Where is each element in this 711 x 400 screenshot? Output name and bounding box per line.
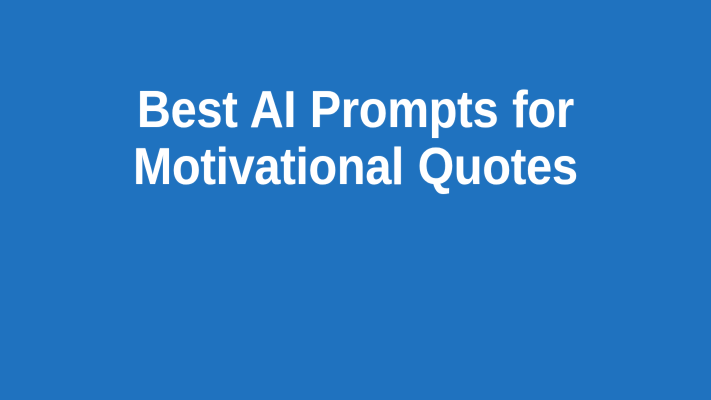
title-banner: Best AI Prompts for Motivational Quotes	[0, 0, 711, 400]
headline-block: Best AI Prompts for Motivational Quotes	[0, 82, 711, 196]
page-title: Best AI Prompts for Motivational Quotes	[57, 82, 654, 196]
